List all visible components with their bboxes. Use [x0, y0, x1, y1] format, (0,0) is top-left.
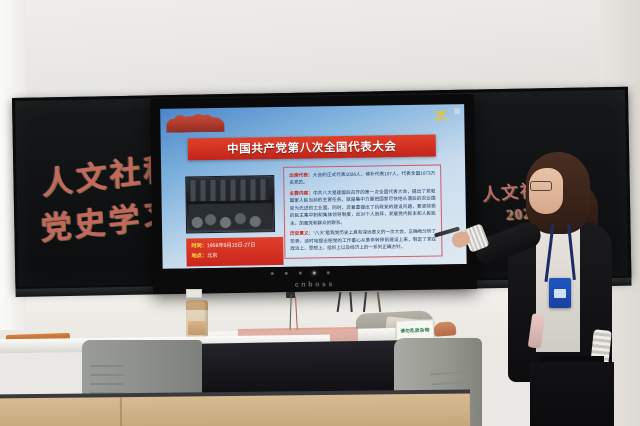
meta-row-place: 地点：北京: [191, 251, 278, 262]
tiananmen-graphic: [166, 112, 224, 133]
indicator-dot-4[interactable]: [313, 271, 316, 274]
corner-marker: [454, 108, 460, 114]
slide-text-box: 出席代表：大会的正式代表1026人，候补代表107人，代表全国1073万名党员。…: [283, 164, 442, 258]
meta-value-time: 1956年9月15日-27日: [207, 242, 256, 249]
id-badge: [549, 278, 571, 308]
display-screen[interactable]: 中国共产党第八次全国代表大会 时间：1956年9月15日-27日 地点：北京 出…: [160, 104, 466, 269]
paragraph-label-significance: 历史意义：: [290, 231, 313, 236]
smart-display[interactable]: 中国共产党第八次全国代表大会 时间：1956年9月15日-27日 地点：北京 出…: [150, 94, 477, 294]
red-object: [434, 321, 457, 337]
historical-photo: [185, 175, 275, 233]
display-brand-logo: cnboss: [295, 281, 335, 289]
indicator-dot-1[interactable]: [271, 272, 274, 275]
meta-label-place: 地点：: [191, 253, 207, 259]
indicator-dot-3[interactable]: [299, 272, 302, 275]
classroom-photo-scene: 人文社科系 党史学习 人文社科系 2021 中国共产党第八次全国代表大会: [0, 0, 640, 426]
hammer-sickle-icon: [432, 107, 449, 122]
slide-title: 中国共产党第八次全国代表大会: [188, 135, 436, 161]
wall-hooks: [336, 292, 388, 314]
paragraph-text-significance: “八大”是我党历史上具有深远意义的一次大会，正确地分析了形势，适时地提出把党的工…: [290, 229, 436, 251]
presenter: [496, 152, 616, 426]
meta-value-place: 北京: [207, 253, 217, 259]
meta-label-time: 时间：: [191, 243, 207, 249]
paragraph-attendees: 出席代表：大会的正式代表1026人，候补代表107人，代表全国1073万名党员。: [289, 170, 435, 187]
display-indicator-dots[interactable]: [271, 271, 330, 275]
paragraph-label-content: 主要内容：: [289, 190, 313, 195]
glass-jar: [186, 300, 208, 338]
presenter-legs: [530, 362, 614, 426]
wooden-desk: [0, 393, 470, 426]
slide-meta-box: 时间：1956年9月15日-27日 地点：北京: [186, 237, 283, 266]
presentation-slide: 中国共产党第八次全国代表大会 时间：1956年9月15日-27日 地点：北京 出…: [160, 104, 466, 269]
glasses-icon: [530, 181, 552, 191]
indicator-dot-2[interactable]: [285, 272, 288, 275]
wall-socket: [186, 289, 202, 298]
presenter-face: [529, 168, 563, 214]
paragraph-content: 主要内容：中共八大是建国后召开的第一次全国代表大会，提出了党和国家人民当前的主要…: [289, 187, 436, 226]
paragraph-significance: 历史意义：“八大”是我党历史上具有深远意义的一次大会，正确地分析了形势，适时地提…: [290, 228, 436, 253]
indicator-dot-5[interactable]: [327, 271, 330, 274]
paragraph-label-attendees: 出席代表：: [289, 172, 313, 177]
